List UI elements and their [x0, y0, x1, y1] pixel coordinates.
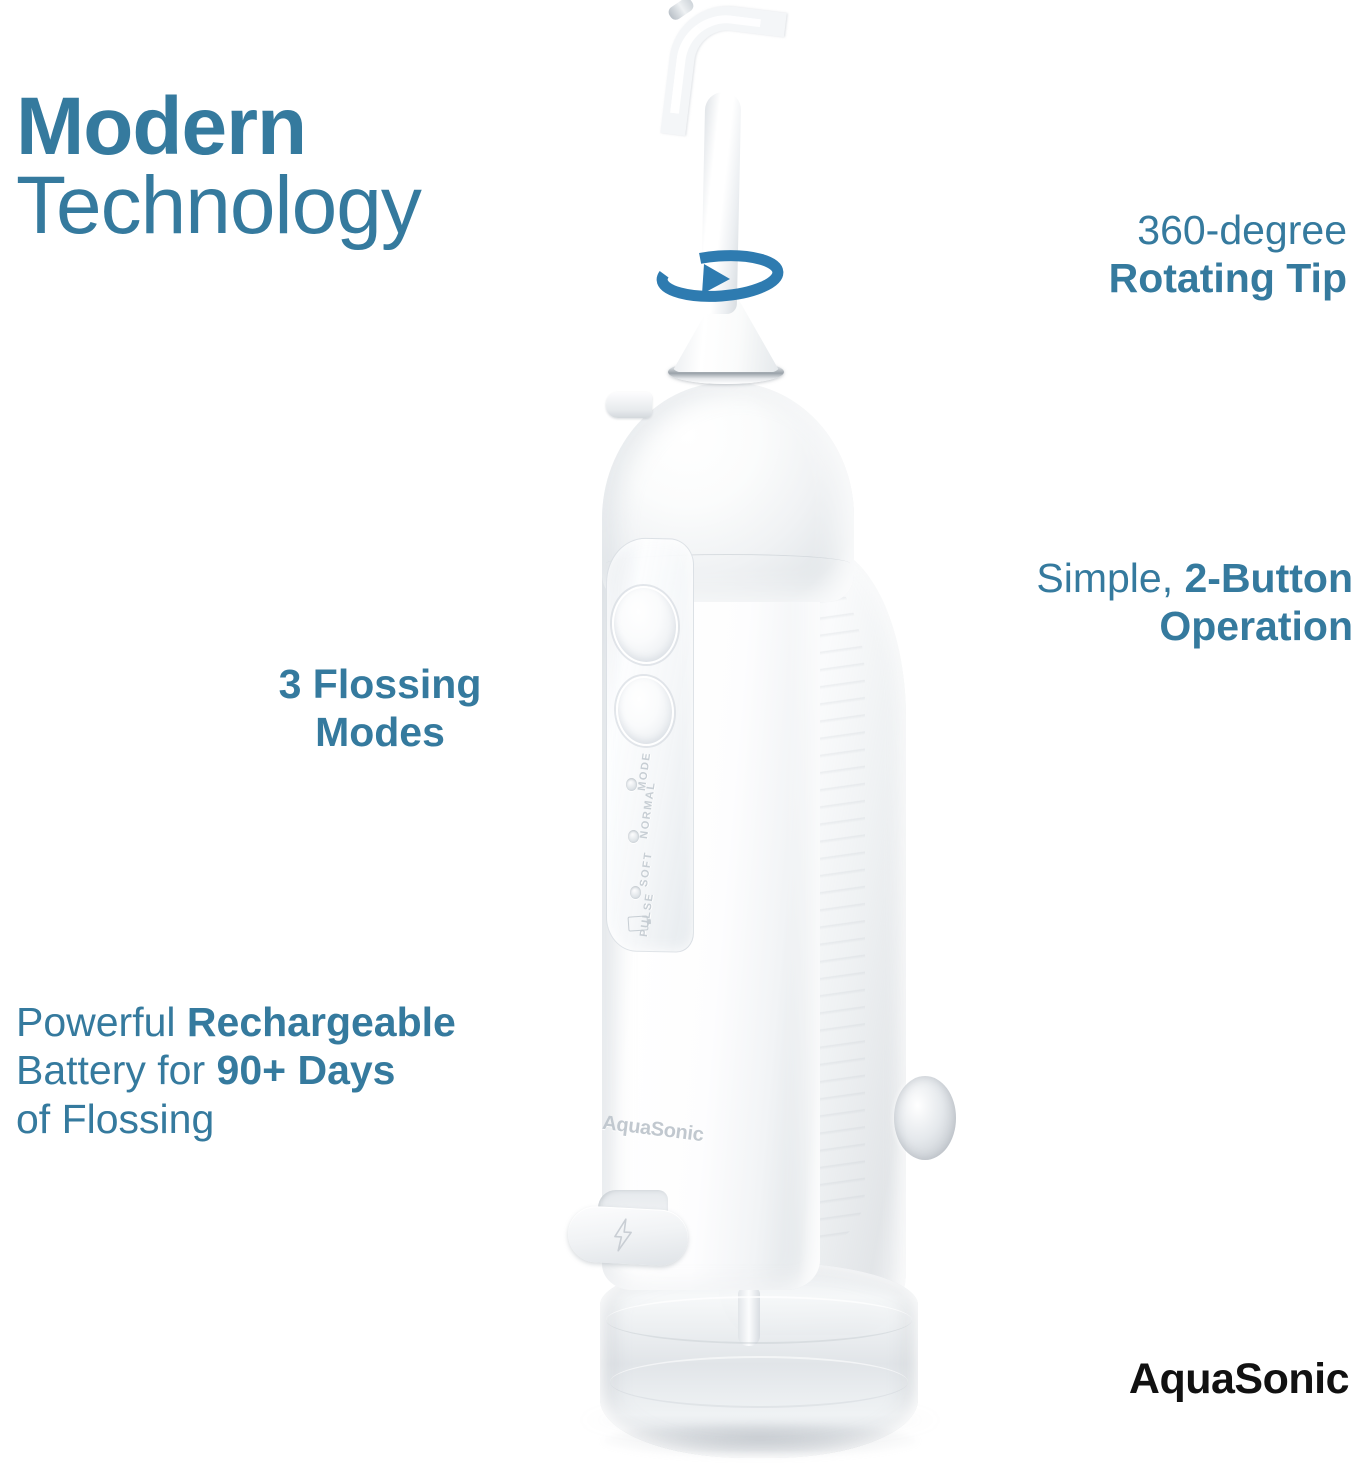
marketing-image: Modern Technology 360-degree Rotating Ti… [0, 0, 1365, 1466]
callout-battery-bold-2: 90+ Days [217, 1047, 396, 1093]
reservoir-base-ring-upper [606, 1296, 912, 1344]
reservoir-base-ring-lower [610, 1356, 908, 1408]
callout-battery-bold-1: Rechargeable [187, 999, 456, 1045]
callout-two-button-bold-1: 2-Button [1184, 555, 1353, 601]
callout-battery-regular-3: of Flossing [16, 1096, 214, 1142]
callout-battery-regular-1: Powerful [16, 999, 187, 1045]
reservoir-base-shadow [602, 1424, 918, 1458]
battery-icon [628, 915, 649, 931]
rotation-arrow-icon [648, 248, 792, 304]
callout-flossing-modes-line-1: 3 Flossing [279, 661, 482, 707]
lightning-bolt-icon [611, 1217, 635, 1252]
led-indicator-pulse [630, 886, 641, 899]
tip-release-tab[interactable] [606, 392, 652, 418]
reservoir-valve-cap [894, 1076, 956, 1160]
callout-rechargeable-battery: Powerful Rechargeable Battery for 90+ Da… [16, 998, 616, 1143]
product-image-water-flosser: MODE NORMAL SOFT PULSE AquaSonic [540, 0, 960, 1466]
callout-battery-regular-2: Battery for [16, 1047, 217, 1093]
callout-rotating-tip-bold: Rotating Tip [1109, 255, 1347, 301]
aquasonic-logo: AquaSonic [1129, 1355, 1349, 1404]
callout-two-button-regular: Simple, [1036, 555, 1184, 601]
headline-line-2: Technology [16, 167, 421, 246]
callout-rotating-tip-regular: 360-degree [1137, 207, 1347, 253]
callout-two-button-bold-2: Operation [1159, 603, 1353, 649]
callout-flossing-modes-line-2: Modes [315, 709, 445, 755]
page-title: Modern Technology [16, 88, 421, 245]
callout-flossing-modes: 3 Flossing Modes [230, 660, 530, 757]
headline-line-1: Modern [16, 88, 421, 167]
